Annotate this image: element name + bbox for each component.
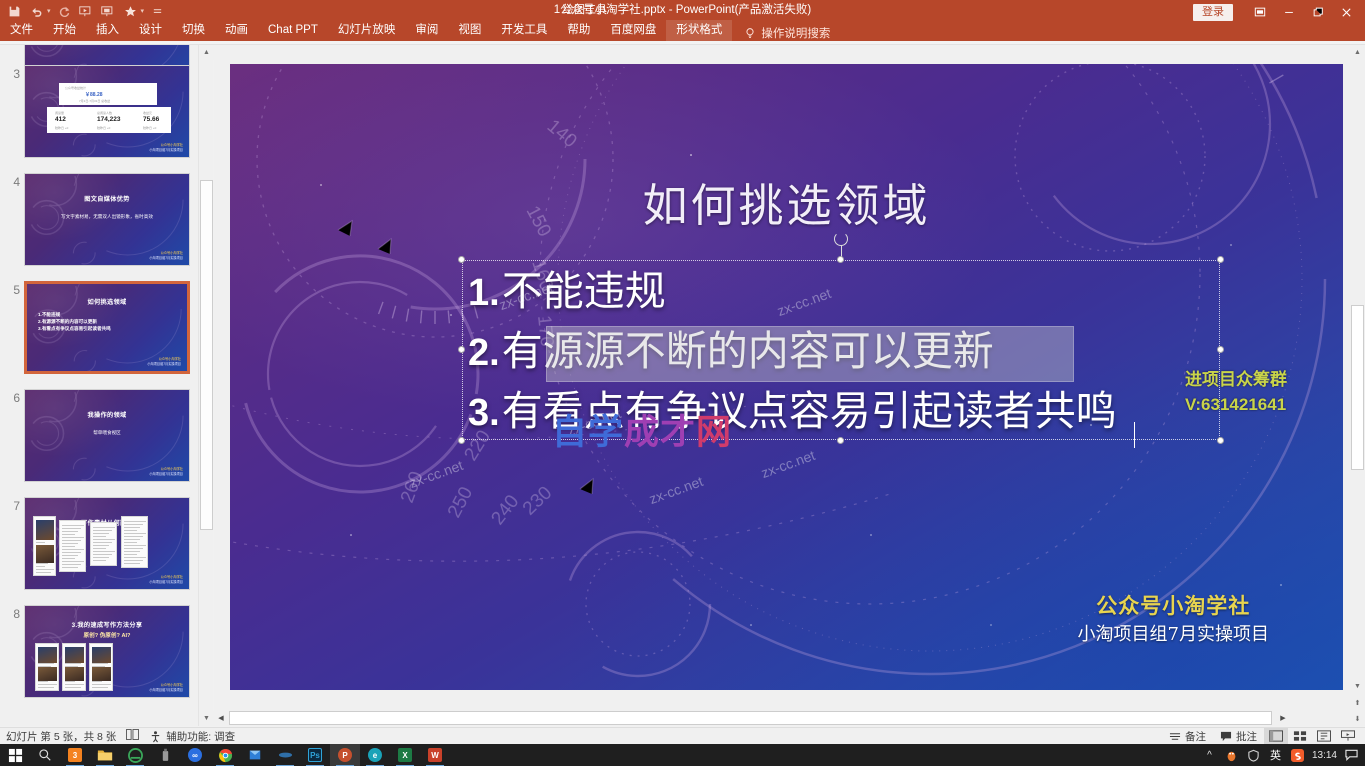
ribbon-tab-12[interactable]: 百度网盘 — [600, 20, 666, 41]
thumbnail-footer: 公众号小淘学社小淘项目组7月实操项目 — [147, 357, 181, 366]
thumbnail-number: 8 — [4, 607, 20, 621]
notes-button[interactable]: 备注 — [1162, 728, 1213, 745]
thumbnail-frame[interactable]: 3.我的速成写作方法分享原创? 伪原创? AI?公众号小淘学社小淘项目组7月实操… — [24, 605, 190, 698]
ribbon-tab-8[interactable]: 审阅 — [405, 20, 448, 41]
notes-icon — [1169, 731, 1181, 742]
ribbon-tab-5[interactable]: 动画 — [215, 20, 258, 41]
thumbnail-footer: 公众号小淘学社小淘项目组7月实操项目 — [149, 251, 183, 260]
browser-360-icon[interactable]: 3 — [60, 744, 90, 766]
thumbnail-title: 图文自媒体优势 — [25, 194, 189, 203]
thumbnail-footer-line1: 公众号小淘学社 — [161, 683, 183, 687]
action-center-icon[interactable] — [1344, 748, 1359, 763]
thumbnail-screenshot — [89, 643, 113, 691]
start-from-current-slide-icon[interactable] — [100, 3, 117, 20]
thumbnail-slide-8[interactable]: 83.我的速成写作方法分享原创? 伪原创? AI?公众号小淘学社小淘项目组7月实… — [0, 605, 198, 700]
watermark-group-promo: 进项目众筹群 V:631421641 — [1185, 367, 1287, 417]
ribbon-tab-13[interactable]: 形状格式 — [666, 20, 732, 41]
thumbnail-number: 5 — [4, 283, 20, 297]
slideshow-icon[interactable] — [1336, 728, 1360, 745]
thumbnail-number: 3 — [4, 67, 20, 81]
excel-icon[interactable]: X — [390, 744, 420, 766]
search-icon[interactable] — [30, 744, 60, 766]
thumbnail-footer-line1: 公众号小淘学社 — [161, 575, 183, 579]
powerpoint-icon[interactable]: P — [330, 744, 360, 766]
thumbnail-stat-label: 总阅读人数 — [97, 111, 112, 115]
ribbon-tab-strip: 文件开始插入设计切换动画Chat PPT幻灯片放映审阅视图开发工具帮助百度网盘形… — [0, 20, 1365, 41]
comment-bubble-icon — [1220, 731, 1232, 742]
thumbnail-footer-line2: 小淘项目组7月实操项目 — [149, 472, 183, 476]
sign-in-button[interactable]: 登录 — [1193, 4, 1233, 21]
rotate-handle[interactable] — [834, 232, 848, 246]
slide-bullet-number: 3. — [468, 384, 500, 442]
resize-handle-sw[interactable] — [458, 437, 465, 444]
slide-bullet-number: 2. — [468, 324, 500, 382]
slide-title-text[interactable]: 如何挑选领域 — [230, 169, 1343, 234]
slide-scroll-up-icon[interactable]: ▲ — [1350, 45, 1365, 60]
ribbon-tab-2[interactable]: 插入 — [86, 20, 129, 41]
scroll-right-icon[interactable]: ▶ — [1276, 711, 1290, 725]
accessibility-icon — [149, 730, 162, 743]
comments-button[interactable]: 批注 — [1213, 728, 1264, 745]
taskbar-clock[interactable]: 13:14 — [1312, 750, 1337, 761]
watermark-brand-part2: 成才 — [624, 412, 696, 453]
comments-label: 批注 — [1236, 729, 1257, 744]
slide-editing-stage: 260 250 240 230 220 140 150 160 170 — [214, 45, 1350, 710]
ribbon-tab-11[interactable]: 帮助 — [557, 20, 600, 41]
thumbnail-scroll-up-icon[interactable]: ▲ — [199, 45, 214, 60]
slide-bullet-number: 1. — [468, 264, 500, 322]
title-bar: ▾ ▾ 绘图工具 1公众号小淘学社.pptx - PowerPoint(产品激活… — [0, 0, 1365, 41]
ribbon-tab-0[interactable]: 文件 — [0, 20, 43, 41]
accessibility-status[interactable]: 辅助功能: 调查 — [149, 728, 242, 745]
resize-handle-nw[interactable] — [458, 256, 465, 263]
edge-icon[interactable] — [120, 744, 150, 766]
thumbnail-slide-3[interactable]: 3成果展示公众号收益统计￥88.287月1日-7月31日 总收益阅读量412较昨… — [0, 65, 198, 160]
thumbnail-stat-value: 412 — [55, 116, 66, 123]
resize-handle-w[interactable] — [458, 346, 465, 353]
thumbnail-footer: 公众号小淘学社小淘项目组7月实操项目 — [149, 143, 183, 152]
thumbnail-stat-card-bottom: 阅读量412较昨日 +0总阅读人数174,223较昨日 +0收益元75.66较昨… — [47, 107, 171, 133]
thumbnail-slide-4[interactable]: 4图文自媒体优势写文字素材易，无需双人出镜形象，省时高效公众号小淘学社小淘项目组… — [0, 173, 198, 268]
thumbnail-screenshot — [59, 520, 86, 572]
lightbulb-icon — [744, 27, 756, 39]
slide-footer[interactable]: 公众号小淘学社 小淘项目组7月实操项目 — [1078, 591, 1269, 648]
sogou-icon[interactable] — [1290, 748, 1305, 763]
thumbnail-footer-line2: 小淘项目组7月实操项目 — [149, 580, 183, 584]
thumbnail-scroll-thumb[interactable] — [200, 180, 213, 530]
document-title: 1公众号小淘学社.pptx - PowerPoint(产品激活失败) — [0, 3, 1365, 18]
watermark-brand-part1: 自学 — [552, 412, 624, 453]
thumbnail-title: 如何挑选领域 — [27, 297, 187, 306]
photoshop-icon[interactable]: Ps — [300, 744, 330, 766]
thumbnail-footer: 公众号小淘学社小淘项目组7月实操项目 — [149, 575, 183, 584]
status-bar: 幻灯片 第 5 张，共 8 张 辅助功能: 调查 备注 批注 — [0, 727, 1365, 744]
thumbnail-stat-value: 174,223 — [97, 116, 121, 123]
foxmail-icon[interactable] — [240, 744, 270, 766]
customize-qat-icon[interactable] — [149, 3, 166, 20]
ribbon-tab-3[interactable]: 设计 — [129, 20, 172, 41]
thumbnail-footer-line2: 小淘项目组7月实操项目 — [147, 362, 181, 366]
thumbnail-number: 4 — [4, 175, 20, 189]
thumbnail-screenshot — [33, 516, 56, 576]
ribbon-tab-4[interactable]: 切换 — [172, 20, 215, 41]
ribbon-tab-10[interactable]: 开发工具 — [491, 20, 557, 41]
previous-slide-icon[interactable]: ⬆ — [1350, 695, 1365, 710]
thumbnail-subtitle: 写文字素材易，无需双人出镜形象，省时高效 — [25, 214, 189, 220]
blue-app-icon[interactable] — [270, 744, 300, 766]
current-slide[interactable]: 260 250 240 230 220 140 150 160 170 — [230, 64, 1343, 690]
watermark-brand: 自学成才网 — [552, 404, 732, 455]
tell-me-search[interactable]: 操作说明搜索 — [732, 25, 830, 41]
contextual-tab-group-label: 绘图工具 — [557, 1, 613, 20]
ribbon-tab-7[interactable]: 幻灯片放映 — [328, 20, 406, 41]
horizontal-scrollbar[interactable]: ◀ ▶ — [214, 710, 1350, 726]
thumbnail-frame[interactable]: 图文自媒体优势写文字素材易，无需双人出镜形象，省时高效公众号小淘学社小淘项目组7… — [24, 173, 190, 266]
ribbon-tab-9[interactable]: 视图 — [448, 20, 491, 41]
thumbnail-title: 3.我的速成写作方法分享 — [25, 620, 189, 629]
notes-label: 备注 — [1185, 729, 1206, 744]
ime-english-icon[interactable]: 英 — [1268, 748, 1283, 763]
thumbnail-footer-line2: 小淘项目组7月实操项目 — [149, 688, 183, 692]
thumbnail-stat-value: 75.66 — [143, 116, 159, 123]
thumbnail-scroll-down-icon[interactable]: ▼ — [199, 711, 214, 726]
horizontal-scroll-thumb[interactable] — [229, 711, 1272, 725]
slide-bullet-1[interactable]: 1.不能违规 — [468, 262, 1226, 322]
thumbnail-subtitle: 帮单喂食视区 — [25, 430, 189, 436]
start-from-beginning-icon[interactable] — [78, 3, 95, 20]
thumbnail-footer-line1: 公众号小淘学社 — [159, 357, 181, 361]
thumbnail-footer-line2: 小淘项目组7月实操项目 — [149, 148, 183, 152]
thumbnail-stat-card-top: 公众号收益统计￥88.287月1日-7月31日 总收益 — [59, 83, 157, 105]
baidu-netdisk-icon[interactable]: ∞ — [180, 744, 210, 766]
thumbnail-footer-line1: 公众号小淘学社 — [161, 143, 183, 147]
show-hidden-icons-icon[interactable]: ^ — [1202, 748, 1217, 763]
thumbnail-frame[interactable]: 如何挑选领域1.不能违规2.有源源不断的内容可以更新3.有看点有争议点容易引起读… — [24, 281, 190, 374]
slide-bullet-text: 不能违规 — [502, 262, 666, 320]
thumbnail-screenshot — [90, 522, 117, 566]
thumbnail-number: 6 — [4, 391, 20, 405]
undo-dropdown-icon[interactable]: ▾ — [47, 7, 51, 15]
thumbnail-slide-7[interactable]: 7写作素材从何而来公众号小淘学社小淘项目组7月实操项目 — [0, 497, 198, 592]
reading-view-icon[interactable] — [1312, 728, 1336, 745]
chrome-icon[interactable] — [210, 744, 240, 766]
watermark-highlight-box — [546, 326, 1074, 382]
quick-access-toolbar: ▾ ▾ — [6, 2, 166, 20]
edge-chromium-icon[interactable]: e — [360, 744, 390, 766]
slide-layout-icon[interactable] — [126, 729, 139, 743]
next-slide-icon[interactable]: ⬇ — [1350, 711, 1365, 726]
watermark-group-line2: V:631421641 — [1185, 392, 1287, 417]
thumbnail-slide-5[interactable]: 5如何挑选领域1.不能违规2.有源源不断的内容可以更新3.有看点有争议点容易引起… — [0, 281, 198, 376]
thumbnail-screenshot — [35, 643, 59, 691]
thumbnail-footer: 公众号小淘学社小淘项目组7月实操项目 — [149, 683, 183, 692]
system-tray: ^英13:14 — [1202, 748, 1365, 763]
start-icon[interactable] — [0, 744, 30, 766]
accessibility-label: 辅助功能: 调查 — [166, 729, 235, 744]
thumbnail-stat-label: 阅读量 — [55, 111, 64, 115]
save-icon[interactable] — [6, 3, 23, 20]
thumbnail-bullet-line: 3.有看点有争议点容易引起读者共鸣 — [38, 325, 111, 332]
slide-footer-line2: 小淘项目组7月实操项目 — [1078, 622, 1269, 648]
thumbnail-slide-6[interactable]: 6我操作的领域帮单喂食视区公众号小淘学社小淘项目组7月实操项目 — [0, 389, 198, 484]
thumbnail-bullet-line: 1.不能违规 — [38, 311, 111, 318]
slide-scroll-thumb[interactable] — [1351, 305, 1364, 470]
text-cursor-caret — [1134, 422, 1135, 448]
slide-footer-line1: 公众号小淘学社 — [1078, 591, 1269, 621]
thumbnail-frame[interactable]: 成果展示公众号收益统计￥88.287月1日-7月31日 总收益阅读量412较昨日… — [24, 65, 190, 158]
thumbnail-subtitle: 原创? 伪原创? AI? — [25, 631, 189, 639]
thumbnail-screenshot — [121, 516, 148, 568]
slide-vertical-scrollbar[interactable]: ▲ ▼ ⬆ ⬇ — [1350, 45, 1365, 726]
slide-thumbnail-pane[interactable]: 2公众号小淘学社小淘项目组7月实操项目3成果展示公众号收益统计￥88.287月1… — [0, 45, 198, 726]
thumbnail-bullet-line: 2.有源源不断的内容可以更新 — [38, 318, 111, 325]
ribbon-tab-1[interactable]: 开始 — [43, 20, 86, 41]
security-icon[interactable] — [1246, 748, 1261, 763]
ribbon-tab-6[interactable]: Chat PPT — [258, 20, 328, 41]
thumbnail-number: 7 — [4, 499, 20, 513]
redo-icon[interactable] — [56, 3, 73, 20]
windows-taskbar: 3∞PsPeXW^英13:14 — [0, 744, 1365, 766]
thumbnail-footer-line2: 小淘项目组7月实操项目 — [149, 256, 183, 260]
undo-icon[interactable] — [28, 3, 45, 20]
thumbnail-frame[interactable]: 写作素材从何而来公众号小淘学社小淘项目组7月实操项目 — [24, 497, 190, 590]
thumbnail-footer-line1: 公众号小淘学社 — [161, 251, 183, 255]
powerpoint-window: ▾ ▾ 绘图工具 1公众号小淘学社.pptx - PowerPoint(产品激活… — [0, 0, 1365, 766]
thumbnail-stat-label: 收益元 — [143, 111, 152, 115]
thumbnail-frame[interactable]: 我操作的领域帮单喂食视区公众号小淘学社小淘项目组7月实操项目 — [24, 389, 190, 482]
watermark-brand-part3: 网 — [696, 412, 732, 453]
normal-view-icon[interactable] — [1264, 728, 1288, 745]
file-explorer-icon[interactable] — [90, 744, 120, 766]
thumbnail-pane-scrollbar[interactable]: ▲ ▼ — [198, 45, 213, 726]
thumbnail-footer-line1: 公众号小淘学社 — [161, 467, 183, 471]
watermark-group-line1: 进项目众筹群 — [1185, 367, 1287, 392]
slide-sorter-icon[interactable] — [1288, 728, 1312, 745]
favorite-star-icon[interactable] — [122, 3, 139, 20]
thumbnail-footer: 公众号小淘学社小淘项目组7月实操项目 — [149, 467, 183, 476]
slide-scroll-down-icon[interactable]: ▼ — [1350, 679, 1365, 694]
thumbnail-screenshot — [62, 643, 86, 691]
wps-icon[interactable]: W — [420, 744, 450, 766]
star-dropdown-icon[interactable]: ▾ — [141, 7, 145, 15]
slide-position-indicator[interactable]: 幻灯片 第 5 张，共 8 张 — [6, 729, 116, 744]
thumbnail-title: 我操作的领域 — [25, 410, 189, 419]
scroll-left-icon[interactable]: ◀ — [214, 711, 228, 725]
thumbnail-bullets: 1.不能违规2.有源源不断的内容可以更新3.有看点有争议点容易引起读者共鸣 — [38, 311, 111, 333]
tell-me-label: 操作说明搜索 — [761, 25, 830, 41]
qq-penguin-icon[interactable] — [1224, 748, 1239, 763]
usb-drive-icon[interactable] — [150, 744, 180, 766]
